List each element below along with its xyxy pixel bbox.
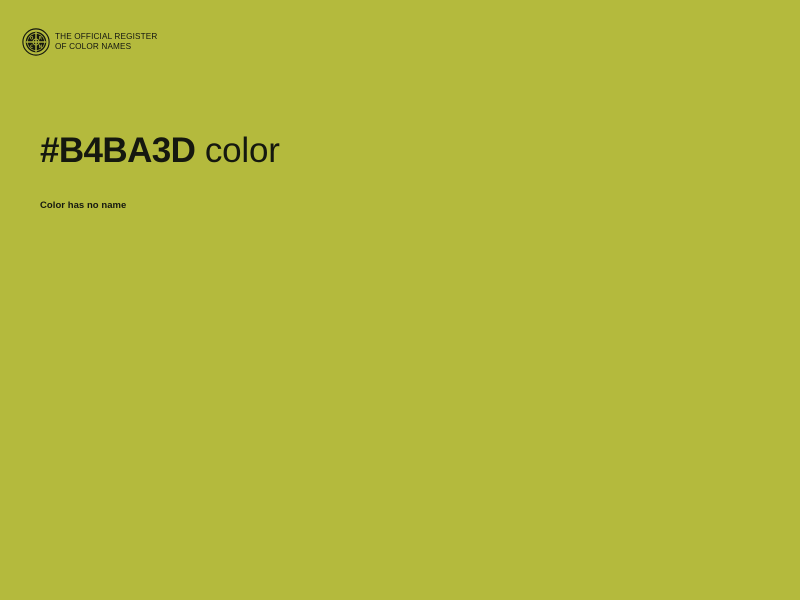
color-swatch-background [0, 0, 800, 600]
color-hex-code: #B4BA3D [40, 131, 195, 170]
brand-wordmark: THE OFFICIAL REGISTER OF COLOR NAMES [55, 32, 157, 52]
site-brand-header[interactable]: O R C N THE OFFICIAL REGISTER OF COLOR N… [22, 28, 157, 56]
register-seal-icon: O R C N [22, 28, 50, 56]
brand-line-2: OF COLOR NAMES [55, 42, 157, 52]
svg-text:N: N [39, 44, 42, 49]
title-suffix: color [195, 131, 279, 170]
color-name-status: Color has no name [40, 199, 126, 212]
svg-text:R: R [39, 35, 42, 40]
color-detail-page: O R C N THE OFFICIAL REGISTER OF COLOR N… [0, 0, 800, 600]
svg-text:C: C [30, 44, 33, 49]
page-title: #B4BA3D color [40, 130, 280, 172]
brand-line-1: THE OFFICIAL REGISTER [55, 32, 157, 42]
